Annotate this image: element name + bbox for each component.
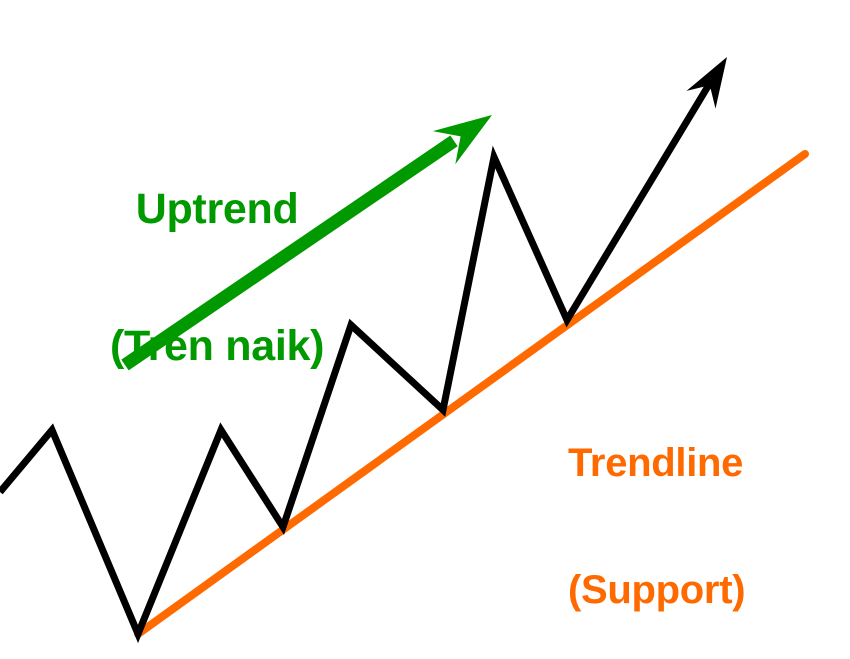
- trendline-label-line1: Trendline: [568, 442, 745, 484]
- diagram-canvas: Uptrend (Tren naik) Trendline (Support): [0, 0, 850, 659]
- uptrend-annotation-label: Uptrend (Tren naik): [110, 96, 324, 461]
- trendline-annotation-label: Trendline (Support): [568, 357, 745, 659]
- uptrend-label-line1: Uptrend: [110, 187, 324, 233]
- uptrend-label-line2: (Tren naik): [110, 324, 324, 370]
- trendline-label-line2: (Support): [568, 569, 745, 611]
